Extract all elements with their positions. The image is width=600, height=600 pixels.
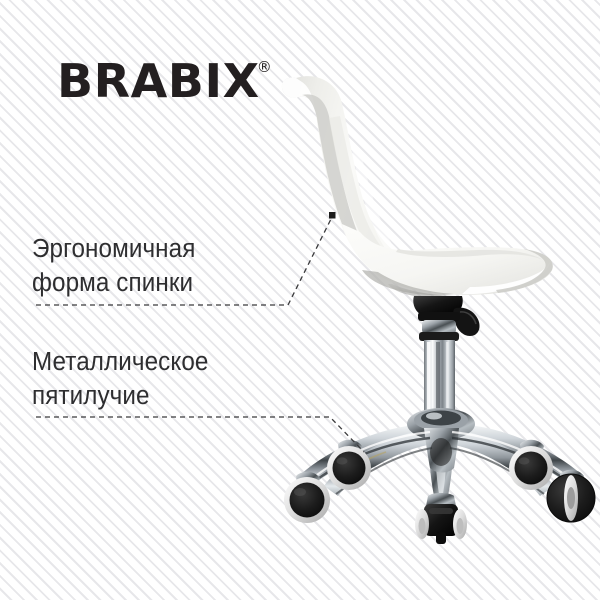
callout-label-backrest: Эргономичная форма спинки — [32, 232, 195, 300]
logo-wordmark: BRABIX — [57, 58, 260, 104]
product-banner: BRABIX ® Эргономичная форма спинки Метал… — [0, 0, 600, 600]
brabix-logo: BRABIX ® — [57, 58, 272, 104]
caster-wheel — [547, 470, 595, 522]
caster-wheel — [284, 472, 330, 523]
gas-lift-cylinder — [419, 320, 459, 418]
callout-label-base: Металлическое пятилучие — [32, 345, 208, 413]
caster-wheel — [415, 493, 467, 544]
